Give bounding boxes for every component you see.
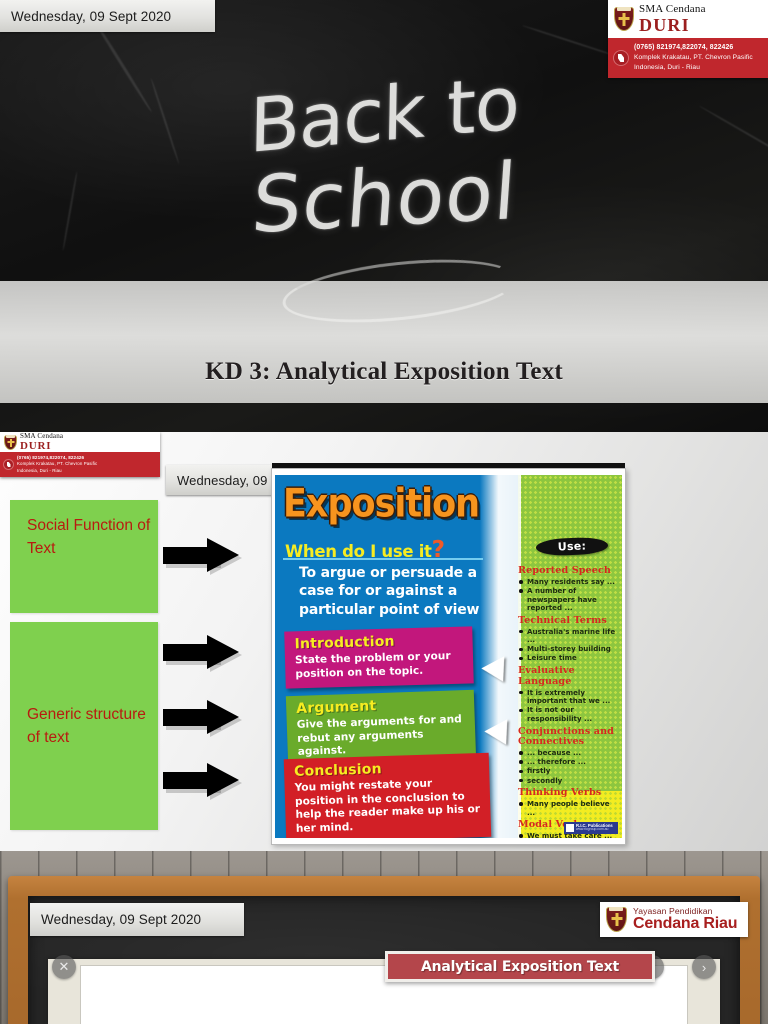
use-heading: Evaluative Language [518,666,618,687]
poster-title: Exposition [283,482,616,527]
slide-1-title: Back to School Wednesday, 09 Sept 2020 S… [0,0,768,432]
poster-stage-conclusion: Conclusion You might restate your positi… [284,753,492,838]
logo-line-1: SMA Cendana [639,4,706,15]
logo-line-1: Yayasan Pendidikan [633,907,737,916]
publisher-mark-icon [566,824,574,832]
shield-crest-icon [614,7,634,31]
close-glyph: ✕ [59,959,70,975]
arrow-right-icon [163,635,239,669]
arrow-right-icon [163,763,239,797]
logo-phone: (0765) 821974,822074, 822426 [17,455,97,462]
logo-wordmark: SMA Cendana DURI [639,4,706,34]
page-title: KD 3: Analytical Exposition Text [205,358,563,386]
sma-cendana-duri-logo: SMA Cendana DURI (0765) 821974,822074, 8… [0,432,160,477]
stage-body: You might restate your position in the c… [294,776,483,836]
use-heading: Thinking Verbs [518,788,618,799]
poster-top-bar [272,463,625,468]
use-item: Leisure time [518,654,618,663]
slide-deck: Back to School Wednesday, 09 Sept 2020 S… [0,0,768,1024]
logo-line-2: DURI [20,441,63,452]
logo-address-2: Indonesia, Duri - Riau [17,468,97,474]
stage-heading: Introduction [294,632,464,653]
phone-icon [3,459,14,470]
poster-divider [283,558,483,560]
stage-body: State the problem or your position on th… [295,650,466,682]
poster-purpose: To argue or persuade a case for or again… [299,564,489,619]
use-item: Australia's marine life ... [518,628,618,645]
analytical-exposition-label: Analytical Exposition Text [385,951,655,982]
poster-use-list: Reported Speech Many residents say ... A… [518,563,618,838]
shield-crest-icon [4,435,17,450]
logo-line-2: Cendana Riau [633,916,737,932]
arrow-right-icon [163,700,239,734]
logo-contact-text: (0765) 821974,822074, 822426 Komplek Kra… [634,43,753,72]
publisher-url: www.ricgroup.com.au [576,828,613,832]
date-label: Wednesday, 09 Sept 2020 [11,9,171,24]
use-item: firstly [518,767,618,776]
use-item: It is not our responsibility ... [518,706,618,723]
use-heading: Reported Speech [518,566,618,577]
logo-address-2: Indonesia, Duri - Riau [634,63,753,73]
logo-contact-bar: (0765) 821974,822074, 822426 Komplek Kra… [608,38,768,78]
red-label-text: Analytical Exposition Text [421,959,619,975]
exposition-poster: Exposition When do I use it? To argue or… [271,468,626,845]
logo-address-1: Komplek Krakatau, PT. Chevron Pasific [634,53,753,63]
yayasan-cendana-riau-logo: Yayasan Pendidikan Cendana Riau [600,902,748,937]
publisher-badge: R.I.C. Publications www.ricgroup.com.au [564,822,618,834]
sma-cendana-duri-logo: SMA Cendana DURI (0765) 821974,822074, 8… [608,0,768,78]
close-icon[interactable]: ✕ [52,955,76,979]
next-glyph: › [702,960,706,975]
date-label: Wednesday, 09 Sept 2020 [41,912,201,927]
poster-stage-introduction: Introduction State the problem or your p… [284,626,474,688]
slide-1-title-band: KD 3: Analytical Exposition Text [0,281,768,403]
use-item: It is extremely important that we ... [518,689,618,706]
generic-structure-label: Generic structure of text [27,703,158,750]
arrow-right-icon [163,538,239,572]
date-chip: Wednesday, 09 Sept 2020 [30,903,244,936]
use-label: Use: [558,540,587,554]
logo-line-2: DURI [639,16,706,34]
use-heading: Conjunctions and Connectives [518,727,618,748]
logo-line-1: SMA Cendana [20,433,63,440]
date-chip: Wednesday, 09 Sept 2020 [0,0,215,32]
chevron-right-icon[interactable]: › [692,955,716,979]
logo-contact-bar: (0765) 821974,822074, 822426 Komplek Kra… [0,452,160,477]
logo-top-row: SMA Cendana DURI [608,0,768,38]
social-function-box: Social Function of Text [10,500,158,613]
poster-canvas: Exposition When do I use it? To argue or… [275,475,622,838]
publisher-text: R.I.C. Publications www.ricgroup.com.au [576,824,613,832]
logo-top-row: SMA Cendana DURI [0,432,160,452]
shield-crest-icon [606,907,627,932]
use-heading: Technical Terms [518,616,618,627]
logo-contact-text: (0765) 821974,822074, 822426 Komplek Kra… [17,455,97,474]
logo-phone: (0765) 821974,822074, 822426 [634,43,753,53]
generic-structure-box: Generic structure of text [10,622,158,830]
logo-wordmark: Yayasan Pendidikan Cendana Riau [633,907,737,933]
phone-icon [613,50,629,66]
use-item: A number of newspapers have reported ... [518,587,618,613]
social-function-label: Social Function of Text [27,517,150,557]
use-item: secondly [518,777,618,786]
use-item: Many people believe ... [518,800,618,817]
logo-wordmark: SMA Cendana DURI [20,433,63,452]
logo-address-1: Komplek Krakatau, PT. Chevron Pasific [17,461,97,467]
stage-body: Give the arguments for and rebut any arg… [297,713,468,760]
